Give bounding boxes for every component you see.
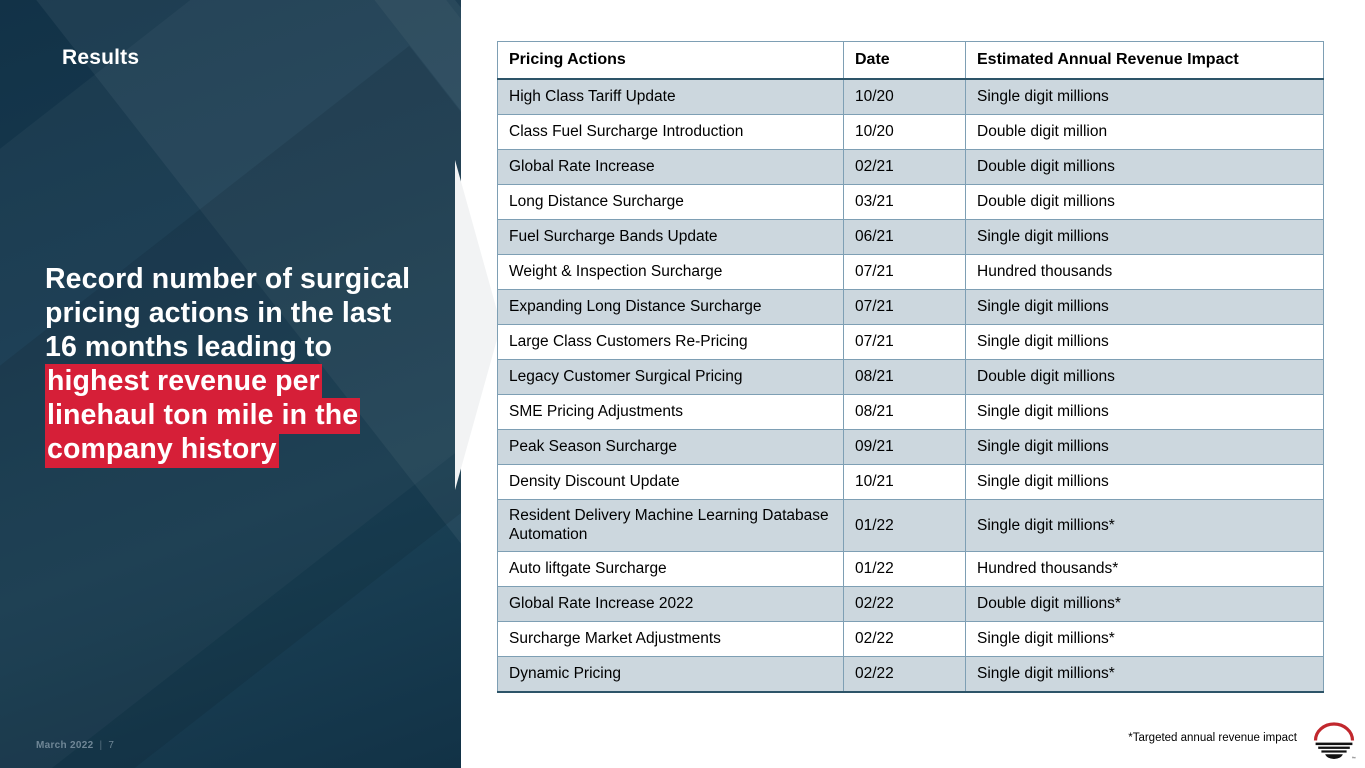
cell-pricing-action: Fuel Surcharge Bands Update bbox=[498, 220, 844, 255]
headline-plain-text: Record number of surgical pricing action… bbox=[45, 263, 410, 363]
table-row: Fuel Surcharge Bands Update06/21Single d… bbox=[498, 220, 1324, 255]
svg-text:™: ™ bbox=[1352, 756, 1356, 761]
cell-date: 10/20 bbox=[844, 79, 966, 115]
cell-revenue-impact: Single digit millions bbox=[966, 290, 1324, 325]
cell-date: 02/21 bbox=[844, 150, 966, 185]
cell-date: 02/22 bbox=[844, 587, 966, 622]
cell-date: 07/21 bbox=[844, 290, 966, 325]
cell-date: 06/21 bbox=[844, 220, 966, 255]
cell-revenue-impact: Hundred thousands bbox=[966, 255, 1324, 290]
cell-revenue-impact: Single digit millions bbox=[966, 465, 1324, 500]
cell-date: 07/21 bbox=[844, 325, 966, 360]
footer-separator: | bbox=[93, 740, 108, 751]
cell-date: 10/20 bbox=[844, 115, 966, 150]
pricing-actions-table: Pricing Actions Date Estimated Annual Re… bbox=[497, 41, 1324, 693]
table-row: Surcharge Market Adjustments02/22Single … bbox=[498, 622, 1324, 657]
cell-pricing-action: Legacy Customer Surgical Pricing bbox=[498, 360, 844, 395]
cell-pricing-action: High Class Tariff Update bbox=[498, 79, 844, 115]
table-row: Expanding Long Distance Surcharge07/21Si… bbox=[498, 290, 1324, 325]
table-row: Long Distance Surcharge03/21Double digit… bbox=[498, 185, 1324, 220]
cell-revenue-impact: Single digit millions* bbox=[966, 622, 1324, 657]
cell-pricing-action: Dynamic Pricing bbox=[498, 657, 844, 693]
cell-date: 03/21 bbox=[844, 185, 966, 220]
table-row: High Class Tariff Update10/20Single digi… bbox=[498, 79, 1324, 115]
slide-footer: March 2022|7 bbox=[36, 740, 114, 751]
table-row: Auto liftgate Surcharge01/22Hundred thou… bbox=[498, 552, 1324, 587]
table-row: Class Fuel Surcharge Introduction10/20Do… bbox=[498, 115, 1324, 150]
cell-revenue-impact: Single digit millions bbox=[966, 395, 1324, 430]
cell-date: 01/22 bbox=[844, 500, 966, 552]
cell-pricing-action: Peak Season Surcharge bbox=[498, 430, 844, 465]
table-body: High Class Tariff Update10/20Single digi… bbox=[498, 79, 1324, 692]
cell-date: 08/21 bbox=[844, 395, 966, 430]
table-row: Weight & Inspection Surcharge07/21Hundre… bbox=[498, 255, 1324, 290]
company-logo: ™ bbox=[1311, 721, 1357, 761]
cell-date: 01/22 bbox=[844, 552, 966, 587]
footnote-text: *Targeted annual revenue impact bbox=[1128, 732, 1297, 744]
table-row: Resident Delivery Machine Learning Datab… bbox=[498, 500, 1324, 552]
cell-revenue-impact: Double digit millions bbox=[966, 360, 1324, 395]
cell-revenue-impact: Single digit millions bbox=[966, 430, 1324, 465]
cell-revenue-impact: Hundred thousands* bbox=[966, 552, 1324, 587]
headline-highlighted-text: highest revenue per linehaul ton mile in… bbox=[45, 364, 360, 468]
cell-date: 10/21 bbox=[844, 465, 966, 500]
section-title: Results bbox=[62, 46, 139, 70]
cell-date: 02/22 bbox=[844, 622, 966, 657]
table-header-row: Pricing Actions Date Estimated Annual Re… bbox=[498, 42, 1324, 80]
cell-date: 08/21 bbox=[844, 360, 966, 395]
table-row: Global Rate Increase02/21Double digit mi… bbox=[498, 150, 1324, 185]
table-row: Dynamic Pricing02/22Single digit million… bbox=[498, 657, 1324, 693]
cell-revenue-impact: Double digit millions bbox=[966, 150, 1324, 185]
cell-pricing-action: Density Discount Update bbox=[498, 465, 844, 500]
headline-statement: Record number of surgical pricing action… bbox=[45, 262, 430, 466]
cell-pricing-action: Weight & Inspection Surcharge bbox=[498, 255, 844, 290]
footer-page-number: 7 bbox=[108, 740, 114, 751]
cell-pricing-action: SME Pricing Adjustments bbox=[498, 395, 844, 430]
cell-pricing-action: Class Fuel Surcharge Introduction bbox=[498, 115, 844, 150]
cell-revenue-impact: Double digit million bbox=[966, 115, 1324, 150]
chevron-right-icon bbox=[455, 160, 501, 490]
cell-pricing-action: Global Rate Increase bbox=[498, 150, 844, 185]
cell-revenue-impact: Single digit millions bbox=[966, 220, 1324, 255]
column-header-pricing-actions: Pricing Actions bbox=[498, 42, 844, 80]
cell-revenue-impact: Double digit millions* bbox=[966, 587, 1324, 622]
cell-date: 02/22 bbox=[844, 657, 966, 693]
table-row: Peak Season Surcharge09/21Single digit m… bbox=[498, 430, 1324, 465]
column-header-date: Date bbox=[844, 42, 966, 80]
slide-canvas: Results Record number of surgical pricin… bbox=[0, 0, 1365, 768]
table-row: SME Pricing Adjustments08/21Single digit… bbox=[498, 395, 1324, 430]
footer-date: March 2022 bbox=[36, 740, 93, 751]
cell-revenue-impact: Single digit millions* bbox=[966, 500, 1324, 552]
cell-revenue-impact: Single digit millions bbox=[966, 79, 1324, 115]
cell-pricing-action: Global Rate Increase 2022 bbox=[498, 587, 844, 622]
table-row: Global Rate Increase 202202/22Double dig… bbox=[498, 587, 1324, 622]
cell-pricing-action: Expanding Long Distance Surcharge bbox=[498, 290, 844, 325]
cell-pricing-action: Large Class Customers Re-Pricing bbox=[498, 325, 844, 360]
table-row: Density Discount Update10/21Single digit… bbox=[498, 465, 1324, 500]
cell-revenue-impact: Single digit millions* bbox=[966, 657, 1324, 693]
cell-date: 09/21 bbox=[844, 430, 966, 465]
cell-pricing-action: Resident Delivery Machine Learning Datab… bbox=[498, 500, 844, 552]
cell-revenue-impact: Single digit millions bbox=[966, 325, 1324, 360]
cell-revenue-impact: Double digit millions bbox=[966, 185, 1324, 220]
cell-pricing-action: Long Distance Surcharge bbox=[498, 185, 844, 220]
cell-date: 07/21 bbox=[844, 255, 966, 290]
table-row: Large Class Customers Re-Pricing07/21Sin… bbox=[498, 325, 1324, 360]
column-header-impact: Estimated Annual Revenue Impact bbox=[966, 42, 1324, 80]
cell-pricing-action: Auto liftgate Surcharge bbox=[498, 552, 844, 587]
table-row: Legacy Customer Surgical Pricing08/21Dou… bbox=[498, 360, 1324, 395]
cell-pricing-action: Surcharge Market Adjustments bbox=[498, 622, 844, 657]
